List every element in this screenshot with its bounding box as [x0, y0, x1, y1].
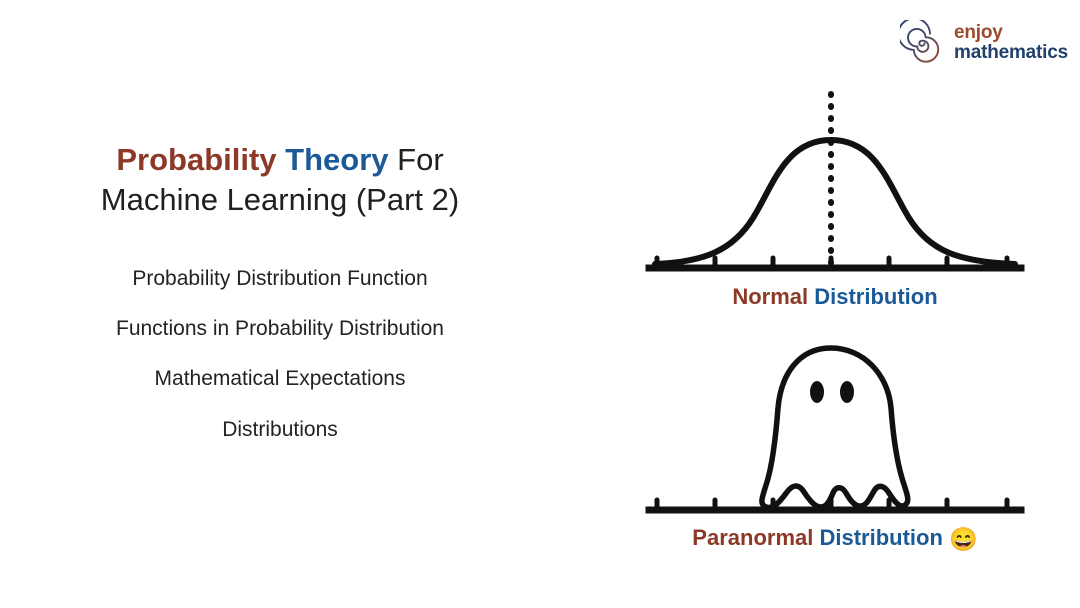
list-item: Probability Distribution Function: [60, 265, 500, 293]
normal-distribution-caption: Normal Distribution: [635, 284, 1035, 310]
title-word-theory: Theory: [285, 142, 388, 177]
page-title: Probability Theory For Machine Learning …: [0, 140, 560, 221]
normal-distribution-figure: Normal Distribution: [635, 78, 1035, 310]
caption-word-normal: Normal: [732, 284, 808, 309]
left-content-column: Probability Theory For Machine Learning …: [0, 140, 560, 466]
ghost-eye-left: [810, 381, 824, 403]
title-word-probability: Probability: [116, 142, 276, 177]
paranormal-distribution-caption: Paranormal Distribution 😄: [635, 525, 1035, 553]
smiling-face-icon: 😄: [949, 526, 978, 552]
slide-canvas: enjoy mathematics Probability Theory For…: [0, 0, 1080, 608]
list-item: Mathematical Expectations: [60, 365, 500, 393]
list-item: Functions in Probability Distribution: [60, 315, 500, 343]
figure-spacer: [600, 310, 1070, 334]
title-line-two: Machine Learning (Part 2): [101, 182, 459, 217]
spiral-icon: [900, 20, 946, 66]
paranormal-distribution-figure: Paranormal Distribution 😄: [635, 334, 1035, 553]
topic-list: Probability Distribution Function Functi…: [0, 265, 560, 444]
ghost-icon: [762, 348, 908, 508]
title-word-for: For: [397, 142, 444, 177]
caption-word-paranormal: Paranormal: [692, 525, 813, 550]
logo-wordmark: enjoy mathematics: [954, 23, 1068, 63]
logo-line-enjoy: enjoy: [954, 23, 1068, 43]
ghost-eye-right: [840, 381, 854, 403]
brand-logo[interactable]: enjoy mathematics: [900, 20, 1068, 66]
logo-line-mathematics: mathematics: [954, 43, 1068, 63]
caption-word-distribution: Distribution: [819, 525, 942, 550]
caption-word-distribution: Distribution: [814, 284, 937, 309]
list-item: Distributions: [60, 416, 500, 444]
right-figures-column: Normal Distribution: [600, 78, 1070, 553]
